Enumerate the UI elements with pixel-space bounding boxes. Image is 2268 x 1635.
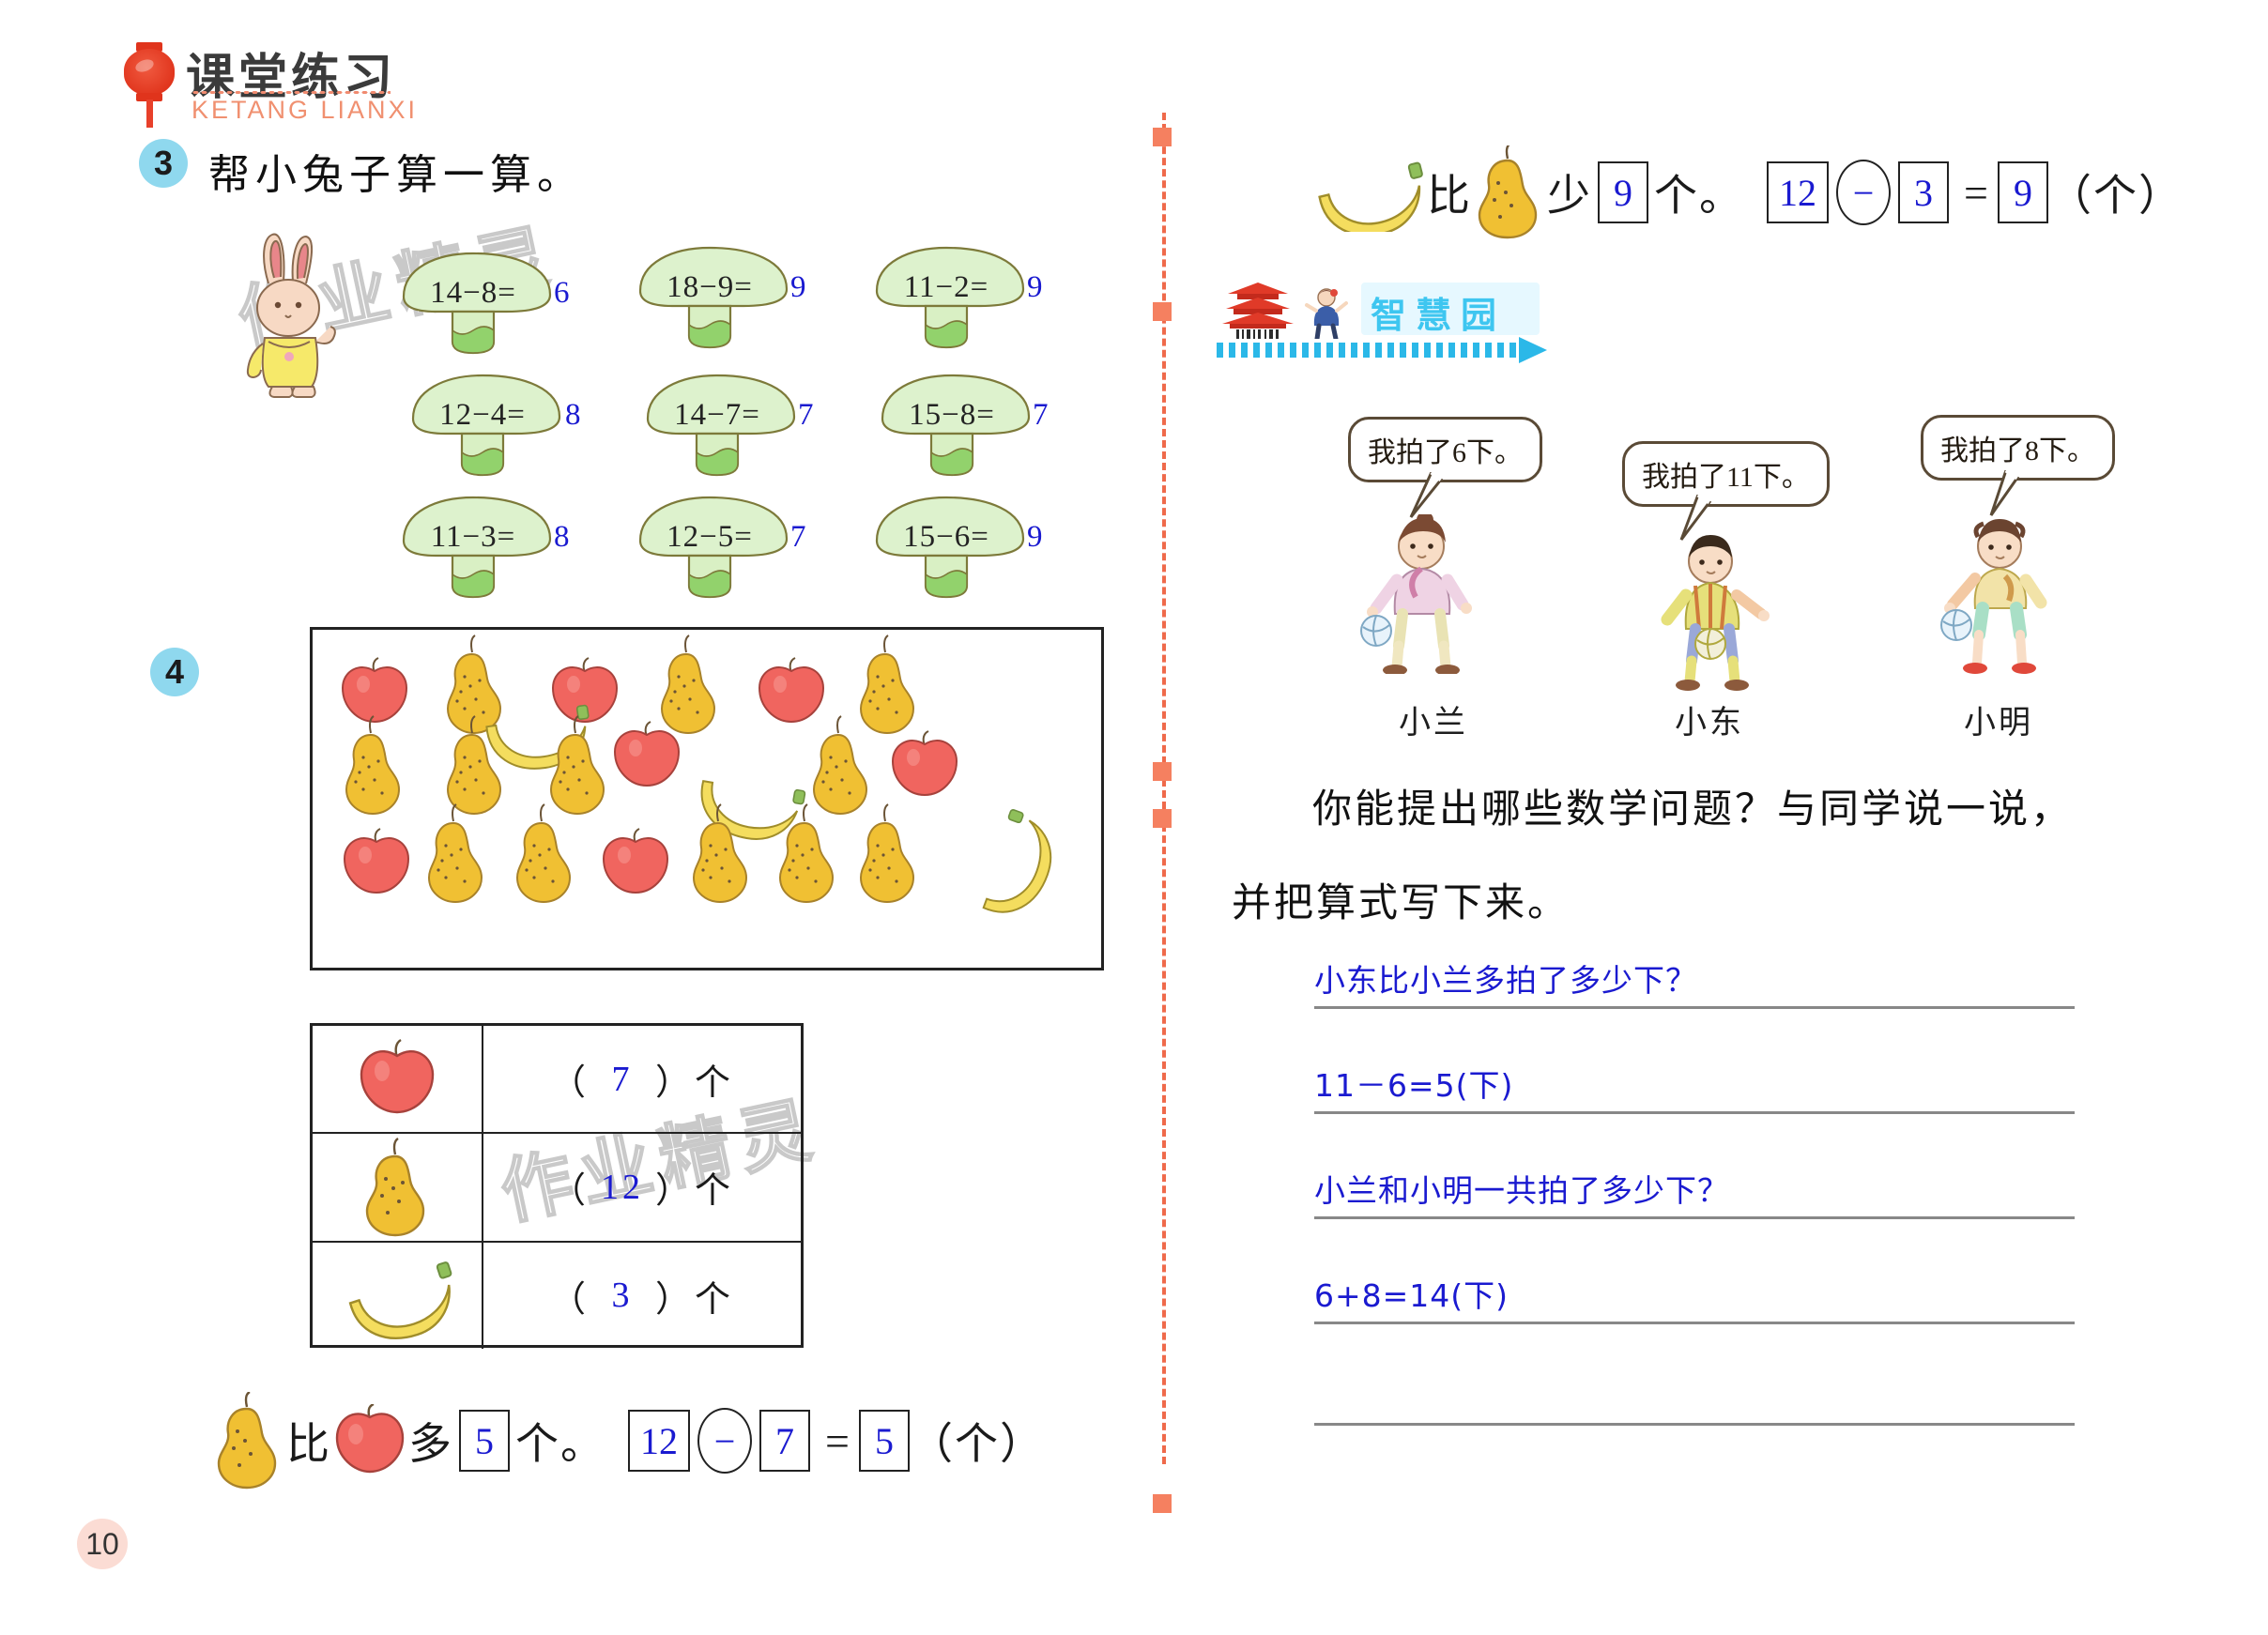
pear-count-value: 12 bbox=[590, 1167, 655, 1208]
speech-bubble: 我拍了6下。 bbox=[1348, 417, 1542, 482]
logo-dot-rule bbox=[192, 90, 391, 95]
banner-dashed-bar bbox=[1217, 343, 1517, 358]
apple-icon bbox=[313, 1026, 483, 1132]
girl-mascot-icon bbox=[1305, 286, 1348, 339]
answer-text[interactable]: 小兰和小明一共拍了多少下？ bbox=[1314, 1166, 1729, 1211]
mushroom-answer: 6 bbox=[554, 276, 570, 311]
banana-icon bbox=[313, 1243, 483, 1349]
bi-character: 比 bbox=[1427, 161, 1472, 223]
pagoda-icon bbox=[1220, 281, 1295, 341]
mushroom-answer: 7 bbox=[798, 398, 814, 433]
mushroom-answer: 9 bbox=[790, 270, 806, 305]
mushroom-answer: 7 bbox=[790, 520, 806, 555]
mushroom-equation: 15−8= bbox=[873, 398, 1031, 433]
brand-logo: 课堂练习 KETANG LIANXI bbox=[113, 28, 422, 127]
mushroom-equation: 12−5= bbox=[631, 520, 789, 555]
pear-icon bbox=[211, 1392, 286, 1490]
banana-count-cell: （ 3 ） 个 bbox=[483, 1243, 801, 1349]
kid-illustration-xiaoming bbox=[1936, 514, 2058, 674]
apple-icon bbox=[333, 1404, 406, 1477]
mushroom-equation: 15−6= bbox=[867, 520, 1025, 555]
mushroom-answer: 8 bbox=[554, 520, 570, 555]
mushroom-problem: 15−8= 7 bbox=[873, 374, 1061, 496]
kid-illustration-xiaodong bbox=[1652, 531, 1774, 691]
divider-marker bbox=[1153, 1494, 1172, 1513]
paren-close: ） bbox=[655, 1161, 695, 1213]
unit-character: 个 bbox=[1654, 161, 1699, 223]
shao-character: 少 bbox=[1547, 161, 1592, 223]
divider-marker bbox=[1153, 302, 1172, 321]
fruit-count-panel bbox=[310, 627, 1104, 970]
unit-paren: （个） bbox=[910, 1410, 1045, 1472]
exercise-3-prompt: 帮小兔子算一算。 bbox=[208, 141, 584, 201]
zhihuiyuan-title: 智慧园 bbox=[1371, 286, 1506, 338]
kid-name-label: 小兰 bbox=[1399, 696, 1468, 742]
table-row: （ 7 ） 个 bbox=[313, 1026, 801, 1134]
answer-rule bbox=[1314, 1111, 2075, 1114]
mushroom-equation: 11−3= bbox=[394, 520, 552, 555]
bi-character: 比 bbox=[286, 1410, 331, 1472]
speech-bubble-text: 我拍了8下。 bbox=[1940, 435, 2095, 466]
banana-icon bbox=[1314, 153, 1427, 232]
answer-text[interactable]: 小东比小兰多拍了多少下？ bbox=[1314, 955, 1697, 1001]
equation-result-box[interactable]: 9 bbox=[1998, 161, 2048, 223]
mushroom-equation: 11−2= bbox=[867, 270, 1025, 305]
blank-answer-box[interactable]: 5 bbox=[459, 1410, 510, 1472]
duo-character: 多 bbox=[408, 1410, 453, 1472]
divider-marker bbox=[1153, 128, 1172, 146]
mushroom-answer: 9 bbox=[1027, 270, 1043, 305]
speech-bubble: 我拍了11下。 bbox=[1622, 441, 1830, 507]
speech-bubble-text: 我拍了11下。 bbox=[1642, 462, 1810, 493]
mushroom-problem: 18−9= 9 bbox=[631, 246, 819, 368]
kid-name-label: 小东 bbox=[1675, 696, 1744, 742]
mushroom-problem: 14−8= 6 bbox=[394, 252, 582, 374]
worksheet-page: 课堂练习 KETANG LIANXI 3 帮小兔子算一算。 作业精灵 作业精灵 bbox=[0, 0, 2268, 1635]
mushroom-problem: 11−3= 8 bbox=[394, 496, 582, 618]
mushroom-answer: 9 bbox=[1027, 520, 1043, 555]
equation-operator-box[interactable]: − bbox=[697, 1408, 752, 1474]
speech-bubble: 我拍了8下。 bbox=[1921, 415, 2115, 481]
question-line-2: 并把算式写下来。 bbox=[1232, 871, 1570, 928]
blank-answer-box[interactable]: 9 bbox=[1598, 161, 1648, 223]
banana-count-value: 3 bbox=[590, 1275, 655, 1316]
unit-label: 个 bbox=[695, 1053, 734, 1105]
pear-icon bbox=[1474, 145, 1545, 239]
page-number: 10 bbox=[77, 1519, 128, 1569]
unit-paren: （个） bbox=[2048, 161, 2184, 223]
unit-label: 个 bbox=[695, 1161, 734, 1213]
unit-character: 个 bbox=[515, 1410, 560, 1472]
unit-label: 个 bbox=[695, 1270, 734, 1322]
mushroom-problem: 12−5= 7 bbox=[631, 496, 819, 618]
equals-sign: = bbox=[1964, 168, 1990, 218]
equation-left-box[interactable]: 12 bbox=[628, 1410, 690, 1472]
mushroom-problem: 12−4= 8 bbox=[404, 374, 591, 496]
equation-operator-box[interactable]: − bbox=[1836, 160, 1891, 225]
mushroom-problem: 11−2= 9 bbox=[867, 246, 1055, 368]
banner-arrow-icon bbox=[1519, 337, 1547, 363]
paren-open: （ bbox=[550, 1270, 590, 1322]
mushroom-problem: 15−6= 9 bbox=[867, 496, 1055, 618]
paren-open: （ bbox=[550, 1053, 590, 1105]
mushroom-answer: 8 bbox=[565, 398, 581, 433]
answer-text[interactable]: 6+8=14(下) bbox=[1314, 1271, 1509, 1316]
mushroom-equation: 12−4= bbox=[404, 398, 561, 433]
pear-icon bbox=[313, 1134, 483, 1240]
divider-marker bbox=[1153, 762, 1172, 781]
mushroom-equation: 14−8= bbox=[394, 276, 552, 311]
table-row: （ 3 ） 个 bbox=[313, 1243, 801, 1349]
question-line-1: 你能提出哪些数学问题？与同学说一说， bbox=[1312, 777, 2073, 834]
answer-rule bbox=[1314, 1216, 2075, 1219]
kid-name-label: 小明 bbox=[1964, 696, 2033, 742]
rabbit-illustration bbox=[237, 225, 359, 399]
mushroom-equation: 18−9= bbox=[631, 270, 789, 305]
apple-count-value: 7 bbox=[590, 1059, 655, 1100]
exercise-4-number: 4 bbox=[150, 648, 199, 696]
logo-pinyin: KETANG LIANXI bbox=[192, 96, 418, 125]
kid-illustration-xiaolan bbox=[1359, 514, 1481, 674]
right-top-sentence: 比 少 9 个 。 12 − 3 = 9 （个） bbox=[1314, 141, 2184, 244]
zhihuiyuan-banner: 智慧园 bbox=[1211, 277, 1605, 361]
mushroom-answer: 7 bbox=[1033, 398, 1049, 433]
answer-rule bbox=[1314, 1006, 2075, 1009]
period: 。 bbox=[1699, 161, 1744, 223]
fruit-count-table: （ 7 ） 个 （ 12 bbox=[310, 1023, 804, 1348]
equals-sign: = bbox=[825, 1416, 851, 1466]
divider-marker bbox=[1153, 809, 1172, 828]
paren-close: ） bbox=[655, 1270, 695, 1322]
paren-open: （ bbox=[550, 1161, 590, 1213]
exercise-3-number: 3 bbox=[139, 139, 188, 188]
equation-left-box[interactable]: 12 bbox=[1767, 161, 1829, 223]
mushroom-problem: 14−7= 7 bbox=[638, 374, 826, 496]
equation-right-box[interactable]: 7 bbox=[759, 1410, 810, 1472]
pear-count-cell: （ 12 ） 个 bbox=[483, 1134, 801, 1240]
equation-result-box[interactable]: 5 bbox=[859, 1410, 910, 1472]
equation-right-box[interactable]: 3 bbox=[1898, 161, 1949, 223]
answer-text[interactable]: 11－6=5(下) bbox=[1314, 1061, 1513, 1106]
answer-rule bbox=[1314, 1322, 2075, 1324]
exercise-4-sentence: 比 多 5 个 。 12 − 7 = 5 （个） bbox=[211, 1389, 1045, 1492]
lantern-icon bbox=[120, 36, 178, 118]
apple-count-cell: （ 7 ） 个 bbox=[483, 1026, 801, 1132]
paren-close: ） bbox=[655, 1053, 695, 1105]
period: 。 bbox=[560, 1410, 605, 1472]
mushroom-equation: 14−7= bbox=[638, 398, 796, 433]
speech-bubble-text: 我拍了6下。 bbox=[1368, 437, 1523, 468]
answer-rule bbox=[1314, 1423, 2075, 1426]
table-row: （ 12 ） 个 bbox=[313, 1134, 801, 1242]
